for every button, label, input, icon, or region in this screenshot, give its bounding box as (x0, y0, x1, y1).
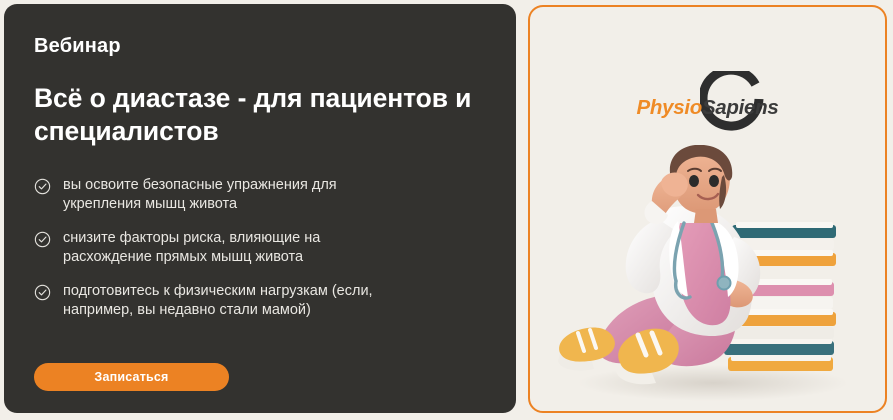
list-item-label: снизите факторы риска, влияющие на расхо… (63, 229, 413, 267)
signup-button[interactable]: Записаться (34, 363, 229, 391)
brand-name-secondary: Sapiens (702, 96, 779, 119)
list-item-label: подготовитесь к физическим нагрузкам (ес… (63, 282, 413, 320)
promo-banner: Вебинар Всё о диастазе - для пациентов и… (0, 0, 893, 420)
check-circle-icon (34, 178, 51, 195)
benefits-list: вы освоите безопасные упражнения для укр… (34, 148, 486, 320)
list-item: подготовитесь к физическим нагрузкам (ес… (34, 282, 486, 320)
webinar-promo-card: Вебинар Всё о диастазе - для пациентов и… (4, 4, 516, 413)
list-item: вы освоите безопасные упражнения для укр… (34, 176, 486, 214)
brand-wordmark: PhysioSapiens (530, 96, 885, 120)
list-item: снизите факторы риска, влияющие на расхо… (34, 229, 486, 267)
brand-logo: PhysioSapiens (530, 65, 885, 157)
check-circle-icon (34, 284, 51, 301)
doctor-sitting-with-books-illustration (538, 145, 883, 407)
eyebrow-label: Вебинар (34, 30, 486, 58)
brand-card: PhysioSapiens (528, 5, 887, 413)
page-title: Всё о диастазе - для пациентов и специал… (34, 58, 486, 148)
check-circle-icon (34, 231, 51, 248)
list-item-label: вы освоите безопасные упражнения для укр… (63, 176, 413, 214)
brand-name-primary: Physio (637, 96, 702, 119)
